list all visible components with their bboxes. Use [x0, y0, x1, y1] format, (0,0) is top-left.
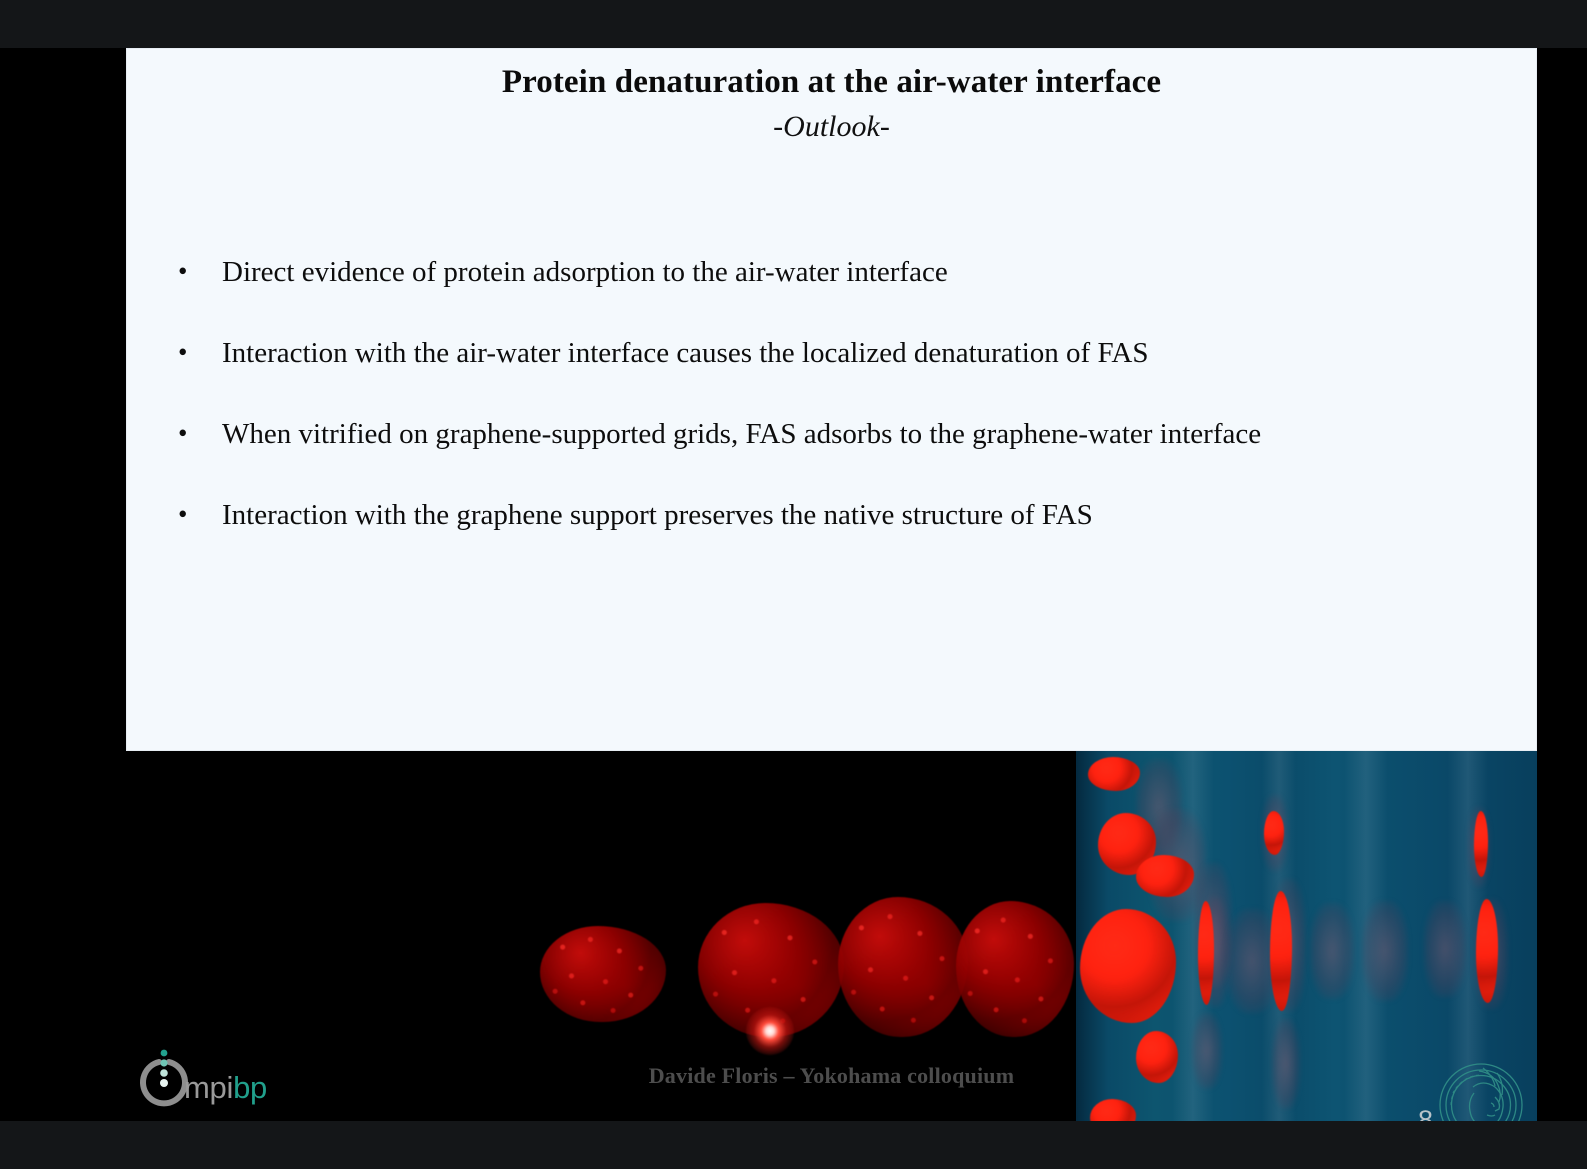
- protein-particle: [838, 897, 968, 1037]
- slide-content-panel: Protein denaturation at the air-water in…: [126, 48, 1537, 751]
- adsorbed-protein-blob: [1476, 899, 1498, 1003]
- letterbox-top: [0, 0, 1587, 48]
- adsorbed-protein-blob: [1080, 909, 1176, 1023]
- adsorbed-protein-blob: [1088, 757, 1140, 791]
- title-block: Protein denaturation at the air-water in…: [126, 62, 1537, 145]
- bullet-marker-icon: •: [174, 253, 222, 289]
- ghost-density: [1192, 1013, 1222, 1089]
- protein-particle: [956, 901, 1074, 1037]
- bullet-text: Interaction with the graphene support pr…: [222, 496, 1093, 535]
- ghost-density: [1362, 901, 1408, 1001]
- bullet-text: Direct evidence of protein adsorption to…: [222, 253, 948, 292]
- slide-viewer: Protein denaturation at the air-water in…: [0, 0, 1587, 1169]
- bullet-marker-icon: •: [174, 496, 222, 532]
- list-item: • Interaction with the air-water interfa…: [174, 334, 1514, 373]
- ghost-density: [1310, 903, 1354, 999]
- page-subtitle: -Outlook-: [126, 109, 1537, 145]
- adsorbed-protein-blob: [1270, 891, 1292, 1011]
- particle-texture: [540, 926, 666, 1022]
- bullet-list: • Direct evidence of protein adsorption …: [174, 253, 1514, 576]
- bullet-marker-icon: •: [174, 334, 222, 370]
- minerva-head-icon: [1427, 1053, 1535, 1121]
- protein-particle: [540, 926, 666, 1022]
- page-title: Protein denaturation at the air-water in…: [126, 62, 1537, 102]
- list-item: • Direct evidence of protein adsorption …: [174, 253, 1514, 292]
- particle-texture: [838, 897, 968, 1037]
- mpibp-wordmark: mpibp: [184, 1070, 267, 1106]
- adsorbed-protein-blob: [1474, 811, 1488, 877]
- adsorbed-protein-blob: [1264, 811, 1284, 855]
- list-item: • Interaction with the graphene support …: [174, 496, 1514, 535]
- mpibp-wordmark-accent: bp: [233, 1070, 267, 1105]
- presentation-slide: Protein denaturation at the air-water in…: [126, 48, 1537, 1121]
- list-item: • When vitrified on graphene-supported g…: [174, 415, 1514, 454]
- adsorbed-protein-blob: [1090, 1099, 1136, 1121]
- bullet-marker-icon: •: [174, 415, 222, 451]
- ghost-density: [1272, 1019, 1300, 1109]
- mpibp-logo: mpibp: [134, 1048, 374, 1118]
- adsorbed-protein-blob: [1198, 901, 1214, 1005]
- letterbox-bottom: [0, 1121, 1587, 1169]
- bullet-text: Interaction with the air-water interface…: [222, 334, 1149, 373]
- adsorbed-protein-blob: [1136, 1031, 1178, 1083]
- bullet-text: When vitrified on graphene-supported gri…: [222, 415, 1261, 454]
- particle-texture: [956, 901, 1074, 1037]
- ghost-density: [1424, 901, 1466, 997]
- adsorbed-protein-blob: [1136, 855, 1194, 897]
- mpibp-wordmark-primary: mpi: [184, 1070, 233, 1105]
- highlight-glow-icon: [746, 1007, 794, 1055]
